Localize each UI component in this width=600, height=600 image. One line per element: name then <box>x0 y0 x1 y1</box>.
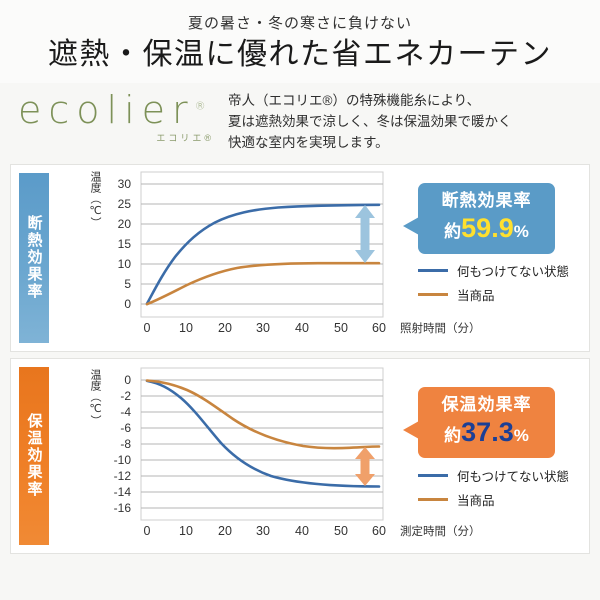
x-axis-title-1: 照射時間（分） <box>400 320 481 336</box>
page-title: 遮熱・保温に優れた省エネカーテン <box>0 37 600 73</box>
callout-unit-1: % <box>514 222 529 241</box>
callout-prefix-1: 約 <box>444 222 461 241</box>
svg-text:10: 10 <box>179 524 193 537</box>
heat-retention-chart-area: 温度（℃） 0 -2 -4 -6 -8 -10 -12 -14 -16 <box>55 359 589 553</box>
callout-value-1: 約59.9% <box>432 213 541 244</box>
heat-retention-callout: 保温効果率 約37.3% <box>418 387 555 459</box>
y-axis-title-2: 温度（℃） <box>89 369 100 426</box>
svg-text:50: 50 <box>334 524 348 537</box>
svg-text:40: 40 <box>295 524 309 537</box>
legend-swatch-blue-icon <box>418 269 448 272</box>
svg-text:20: 20 <box>118 217 132 231</box>
legend-item: 当商品 <box>418 285 569 304</box>
x-axis-title-2: 測定時間（分） <box>400 523 481 539</box>
brand-description: 帝人（エコリエ®）の特殊機能糸により、 夏は遮熱効果で涼しく、冬は保温効果で暖か… <box>228 89 512 154</box>
callout-prefix-2: 約 <box>444 426 461 445</box>
callout-number-2: 37.3 <box>461 417 514 447</box>
svg-text:20: 20 <box>218 321 232 334</box>
svg-text:0: 0 <box>144 321 151 334</box>
svg-text:0: 0 <box>124 297 131 311</box>
header-subtitle: 夏の暑さ・冬の寒さに負けない <box>0 12 600 33</box>
logo-wordmark: ecolier® <box>18 91 228 129</box>
callout-tail-icon <box>403 217 419 235</box>
svg-text:-4: -4 <box>120 405 131 419</box>
insulation-plot: 30 25 20 15 10 5 0 <box>103 169 393 334</box>
svg-text:30: 30 <box>256 524 270 537</box>
legend-swatch-blue-icon <box>418 474 448 477</box>
svg-text:5: 5 <box>124 277 131 291</box>
heat-retention-legend: 何もつけてない状態 当商品 <box>418 466 569 514</box>
heat-retention-plot: 0 -2 -4 -6 -8 -10 -12 -14 -16 <box>103 365 393 537</box>
logo-registered-mark: ® <box>195 99 206 112</box>
svg-text:50: 50 <box>334 321 348 334</box>
callout-title-1: 断熱効果率 <box>432 191 541 211</box>
side-tab-heat-retention: 保温効果率 <box>19 367 49 545</box>
y-axis-title-1: 温度（℃） <box>89 171 100 228</box>
legend-swatch-orange-icon <box>418 498 448 501</box>
callout-value-2: 約37.3% <box>432 417 541 448</box>
svg-text:30: 30 <box>118 177 132 191</box>
callout-number-1: 59.9 <box>461 213 514 243</box>
logo-kana: エコリエ® <box>18 131 228 144</box>
legend-item: 当商品 <box>418 490 569 509</box>
svg-text:-2: -2 <box>120 389 131 403</box>
legend-item: 何もつけてない状態 <box>418 261 569 280</box>
svg-text:20: 20 <box>218 524 232 537</box>
callout-unit-2: % <box>514 426 529 445</box>
svg-text:-14: -14 <box>114 485 132 499</box>
svg-text:60: 60 <box>372 321 386 334</box>
svg-text:60: 60 <box>372 524 386 537</box>
svg-text:0: 0 <box>144 524 151 537</box>
page-header: 夏の暑さ・冬の寒さに負けない 遮熱・保温に優れた省エネカーテン <box>0 0 600 83</box>
svg-text:10: 10 <box>118 257 132 271</box>
svg-text:-6: -6 <box>120 421 131 435</box>
brand-row: ecolier® エコリエ® 帝人（エコリエ®）の特殊機能糸により、 夏は遮熱効… <box>0 83 600 158</box>
legend-label: 何もつけてない状態 <box>457 466 569 485</box>
svg-text:-8: -8 <box>120 437 131 451</box>
legend-item: 何もつけてない状態 <box>418 466 569 485</box>
svg-text:40: 40 <box>295 321 309 334</box>
insulation-legend: 何もつけてない状態 当商品 <box>418 261 569 309</box>
callout-tail-icon <box>403 421 419 439</box>
insulation-chart-area: 温度（℃） 30 25 20 15 10 5 0 <box>55 165 589 351</box>
infographic-page: 夏の暑さ・冬の寒さに負けない 遮熱・保温に優れた省エネカーテン ecolier®… <box>0 0 600 600</box>
legend-label: 当商品 <box>457 285 495 304</box>
svg-text:25: 25 <box>118 197 132 211</box>
svg-text:-12: -12 <box>114 469 132 483</box>
side-tab-insulation: 断熱効果率 <box>19 173 49 343</box>
svg-text:30: 30 <box>256 321 270 334</box>
heat-retention-card: 保温効果率 温度（℃） 0 -2 -4 -6 -8 -10 -12 -14 -1… <box>10 358 590 554</box>
svg-text:0: 0 <box>124 373 131 387</box>
logo-text: ecolier <box>18 88 195 132</box>
legend-label: 当商品 <box>457 490 495 509</box>
svg-text:15: 15 <box>118 237 132 251</box>
insulation-callout: 断熱効果率 約59.9% <box>418 183 555 255</box>
legend-label: 何もつけてない状態 <box>457 261 569 280</box>
insulation-card: 断熱効果率 温度（℃） 30 25 20 15 10 5 0 <box>10 164 590 352</box>
callout-title-2: 保温効果率 <box>432 395 541 415</box>
legend-swatch-orange-icon <box>418 293 448 296</box>
ecolier-logo: ecolier® エコリエ® <box>18 89 228 144</box>
svg-text:-10: -10 <box>114 453 132 467</box>
svg-text:10: 10 <box>179 321 193 334</box>
svg-text:-16: -16 <box>114 501 132 515</box>
